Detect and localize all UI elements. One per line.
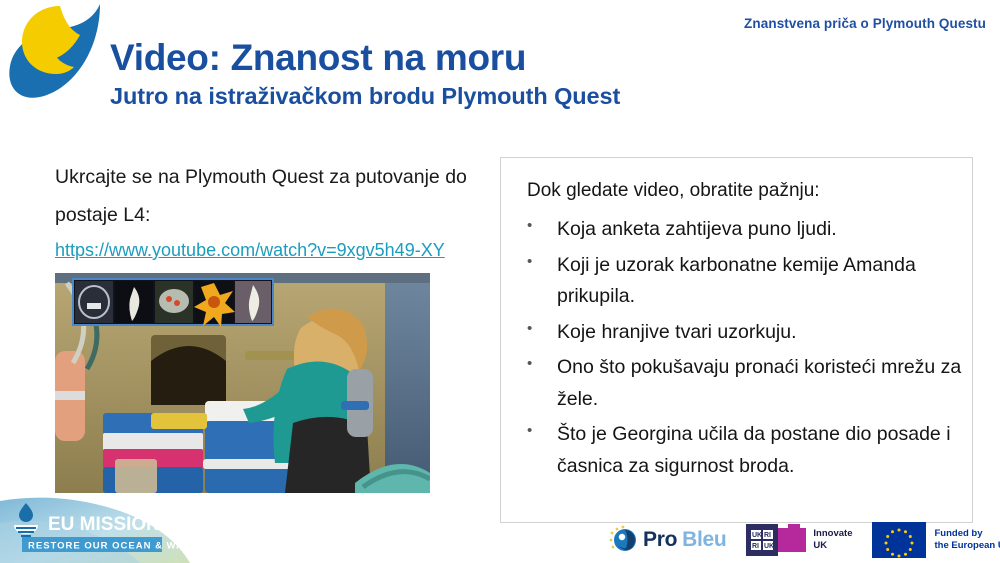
- innovate-uk-line2: UK: [813, 540, 852, 552]
- brand-logo-icon: [4, 2, 108, 112]
- probleu-mark-icon: [608, 525, 638, 555]
- probleu-logo: ProBleu: [608, 525, 726, 555]
- footer-logo-row: ProBleu UKRI RIUK Innovate UK: [608, 520, 1000, 560]
- list-item: •Ono što pokušavaju pronaći koristeći mr…: [523, 352, 962, 415]
- list-item-label: Ono što pokušavaju pronaći koristeći mre…: [557, 356, 961, 410]
- probleu-word-bleu: Bleu: [682, 528, 726, 552]
- list-item-label: Koja anketa zahtijeva puno ljudi.: [557, 218, 837, 240]
- list-item: •Što je Georgina učila da postane dio po…: [523, 419, 962, 482]
- bullet-icon: •: [527, 214, 532, 238]
- eu-flag-icon: [872, 522, 926, 558]
- eu-missions-line2: RESTORE OUR OCEAN & WATERS: [28, 541, 190, 552]
- svg-text:UK: UK: [752, 532, 762, 539]
- eu-funding-line1: Funded by: [934, 528, 1000, 540]
- watch-for-panel: Dok gledate video, obratite pažnju: •Koj…: [500, 157, 973, 523]
- ship-photo: [55, 273, 430, 493]
- bullet-icon: •: [527, 352, 532, 376]
- slide: Znanstvena priča o Plymouth Questu Video…: [0, 0, 1000, 563]
- eu-missions-logo: EU MISSIONS RESTORE OUR OCEAN & WATERS: [0, 495, 190, 563]
- bullet-icon: •: [527, 317, 532, 341]
- eu-missions-line1: EU MISSIONS: [48, 514, 173, 535]
- eu-funding-logo: Funded by the European Union: [872, 522, 1000, 558]
- list-item-label: Koji je uzorak karbonatne kemije Amanda …: [557, 254, 916, 308]
- list-item-label: Koje hranjive tvari uzorkuju.: [557, 321, 797, 343]
- innovate-uk-label: Innovate UK: [813, 528, 852, 552]
- page-title: Video: Znanost na moru: [110, 39, 526, 78]
- list-item: •Koji je uzorak karbonatne kemije Amanda…: [523, 250, 962, 313]
- ukri-mark-icon: UKRI RIUK: [746, 524, 806, 556]
- video-link[interactable]: https://www.youtube.com/watch?v=9xgv5h49…: [55, 240, 445, 261]
- eu-funding-label: Funded by the European Union: [934, 528, 1000, 553]
- innovate-uk-line1: Innovate: [813, 528, 852, 540]
- svg-text:RI: RI: [752, 543, 759, 550]
- list-item: •Koja anketa zahtijeva puno ljudi.: [523, 214, 962, 246]
- page-subtitle: Jutro na istraživačkom brodu Plymouth Qu…: [110, 84, 620, 110]
- panel-bullet-list: •Koja anketa zahtijeva puno ljudi. •Koji…: [523, 214, 962, 487]
- bullet-icon: •: [527, 250, 532, 274]
- svg-text:RI: RI: [764, 532, 771, 539]
- page-kicker: Znanstvena priča o Plymouth Questu: [744, 16, 986, 31]
- ukri-innovate-logo: UKRI RIUK Innovate UK: [746, 524, 852, 556]
- list-item: •Koje hranjive tvari uzorkuju.: [523, 317, 962, 349]
- probleu-word-pro: Pro: [643, 528, 677, 552]
- panel-heading: Dok gledate video, obratite pažnju:: [527, 180, 820, 202]
- list-item-label: Što je Georgina učila da postane dio pos…: [557, 423, 951, 477]
- bullet-icon: •: [527, 419, 532, 443]
- svg-text:UK: UK: [764, 543, 774, 550]
- lead-text: Ukrcajte se na Plymouth Quest za putovan…: [55, 158, 485, 234]
- eu-funding-line2: the European Union: [934, 540, 1000, 552]
